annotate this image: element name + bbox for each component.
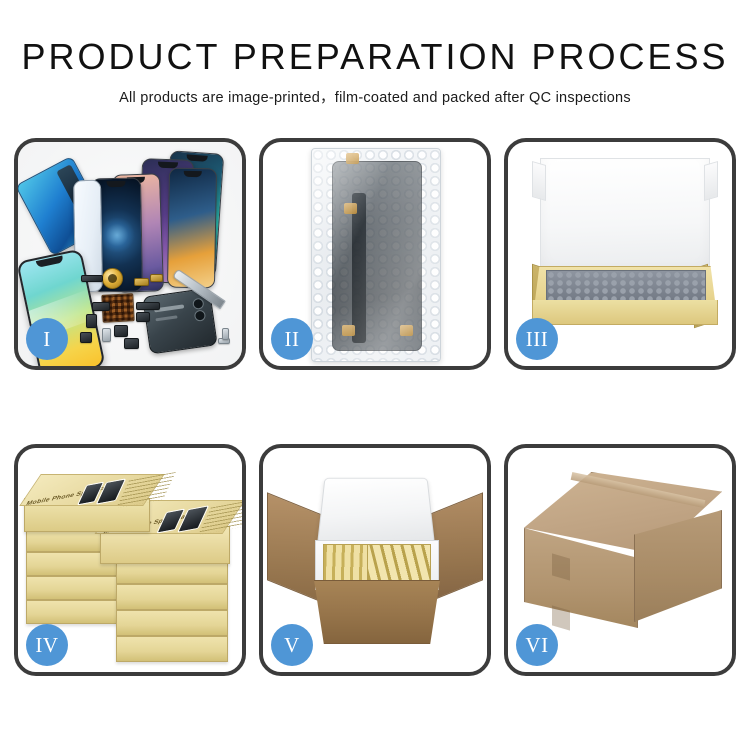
- carton-front-panel: [307, 580, 447, 644]
- step-badge-6: VI: [516, 624, 558, 666]
- white-box-lid: [540, 158, 710, 278]
- small-part: [150, 274, 163, 282]
- kraft-box-front: [532, 300, 718, 325]
- process-step-6: VI: [504, 444, 736, 676]
- product-preparation-infographic: PRODUCT PREPARATION PROCESS All products…: [0, 0, 750, 750]
- adhesive-tape: [342, 325, 355, 336]
- retail-box: [116, 584, 228, 610]
- small-part: [86, 314, 97, 328]
- small-part: [136, 312, 150, 322]
- screen-assembly: [332, 161, 422, 351]
- yellow-boxes-inside: [367, 544, 431, 582]
- step-badge-1: I: [26, 318, 68, 360]
- foam-lid: [317, 478, 435, 545]
- phone-screen-sunset: [167, 168, 217, 289]
- step-badge-4: IV: [26, 624, 68, 666]
- adhesive-tape: [344, 203, 357, 214]
- small-part: [114, 325, 128, 337]
- small-part: [80, 332, 92, 343]
- gold-coil-part-icon: [102, 268, 123, 289]
- retail-box: [116, 636, 228, 662]
- process-step-grid: I II: [14, 138, 736, 676]
- flex-cable: [352, 193, 366, 343]
- step-badge-2: II: [271, 318, 313, 360]
- small-part: [134, 278, 149, 286]
- process-step-3: III: [504, 138, 736, 370]
- step-badge-5: V: [271, 624, 313, 666]
- page-title: PRODUCT PREPARATION PROCESS: [0, 38, 750, 76]
- small-part: [81, 275, 103, 282]
- box-spec-text: [198, 499, 242, 535]
- retail-box: [116, 610, 228, 636]
- bubble-wrap-bag: [311, 148, 441, 362]
- adhesive-tape: [400, 325, 413, 336]
- adhesive-tape: [346, 153, 359, 164]
- step-badge-3: III: [516, 318, 558, 360]
- small-part: [102, 328, 111, 342]
- retail-box-top-face: Mobile Phone Spare Parts: [19, 474, 165, 506]
- small-part: [136, 302, 160, 310]
- carton-hand-hole: [552, 605, 570, 630]
- header: PRODUCT PREPARATION PROCESS All products…: [0, 0, 750, 107]
- small-part: [92, 302, 110, 311]
- process-step-1: I: [14, 138, 246, 370]
- process-step-5: V: [259, 444, 491, 676]
- page-subtitle: All products are image-printed，film-coat…: [0, 86, 750, 107]
- small-part: [124, 338, 139, 349]
- small-part: [222, 328, 229, 340]
- process-step-2: II: [259, 138, 491, 370]
- process-step-4: Mobile Phone Spare Parts Mobile Phone Sp…: [14, 444, 246, 676]
